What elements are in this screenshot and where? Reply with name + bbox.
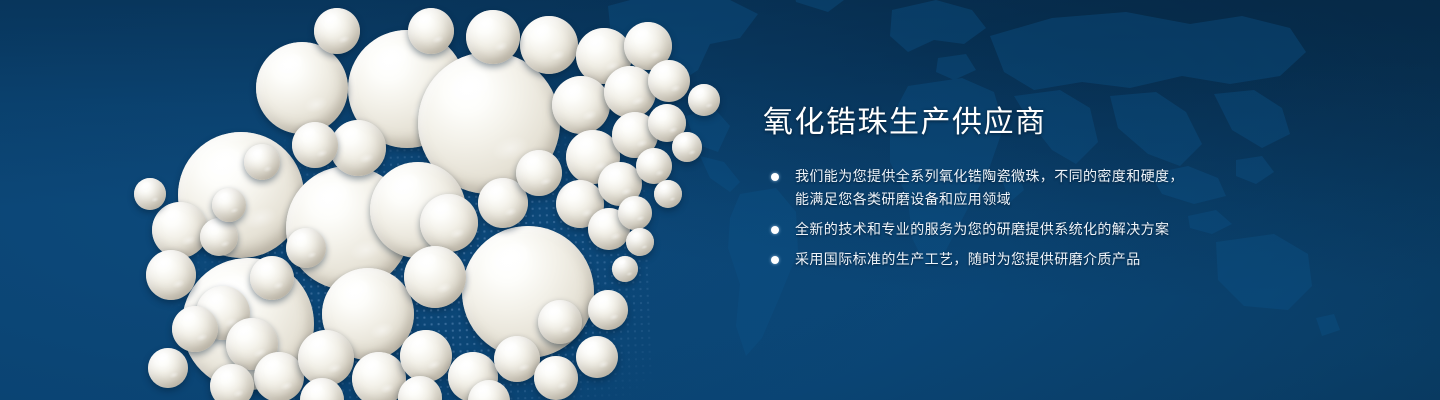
bullet-dot-icon xyxy=(771,256,779,264)
hero-banner: 氧化锆珠生产供应商 我们能为您提供全系列氧化锆陶瓷微珠，不同的密度和硬度， 能满… xyxy=(0,0,1440,400)
bullet-dot-icon xyxy=(771,226,779,234)
list-item-line: 能满足您各类研磨设备和应用领域 xyxy=(795,188,1323,211)
list-item: 采用国际标准的生产工艺，随时为您提供研磨介质产品 xyxy=(763,248,1323,271)
zirconia-beads-photo xyxy=(0,0,760,400)
list-item-line: 全新的技术和专业的服务为您的研磨提供系统化的解决方案 xyxy=(795,218,1323,241)
feature-list: 我们能为您提供全系列氧化锆陶瓷微珠，不同的密度和硬度， 能满足您各类研磨设备和应… xyxy=(763,165,1323,271)
list-item: 我们能为您提供全系列氧化锆陶瓷微珠，不同的密度和硬度， 能满足您各类研磨设备和应… xyxy=(763,165,1323,211)
list-item-line: 我们能为您提供全系列氧化锆陶瓷微珠，不同的密度和硬度， xyxy=(795,165,1323,188)
bullet-dot-icon xyxy=(771,173,779,181)
page-title: 氧化锆珠生产供应商 xyxy=(763,104,1323,142)
list-item-line: 采用国际标准的生产工艺，随时为您提供研磨介质产品 xyxy=(795,248,1323,271)
banner-copy: 氧化锆珠生产供应商 我们能为您提供全系列氧化锆陶瓷微珠，不同的密度和硬度， 能满… xyxy=(763,104,1323,271)
list-item: 全新的技术和专业的服务为您的研磨提供系统化的解决方案 xyxy=(763,218,1323,241)
